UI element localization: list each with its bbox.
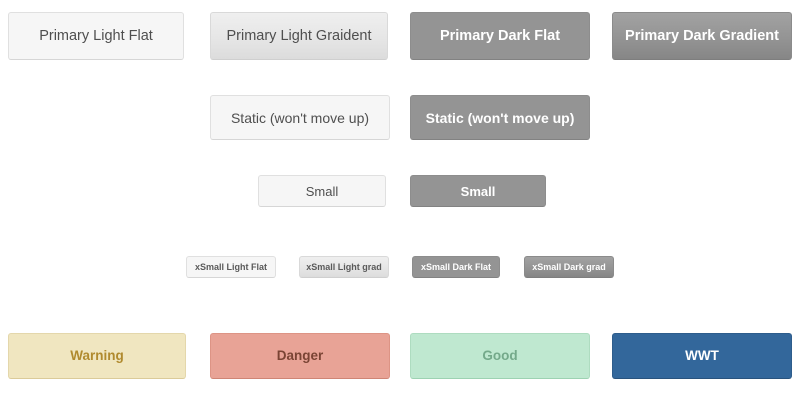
button-warning[interactable]: Warning xyxy=(8,333,186,379)
button-small-light[interactable]: Small xyxy=(258,175,386,207)
button-good[interactable]: Good xyxy=(410,333,590,379)
button-static-dark[interactable]: Static (won't move up) xyxy=(410,95,590,140)
button-danger[interactable]: Danger xyxy=(210,333,390,379)
button-xsmall-light-flat[interactable]: xSmall Light Flat xyxy=(186,256,276,278)
button-primary-light-flat[interactable]: Primary Light Flat xyxy=(8,12,184,60)
button-primary-dark-flat[interactable]: Primary Dark Flat xyxy=(410,12,590,60)
button-showcase: Primary Light Flat Primary Light Graiden… xyxy=(0,0,800,400)
button-primary-light-gradient[interactable]: Primary Light Graident xyxy=(210,12,388,60)
button-xsmall-light-gradient[interactable]: xSmall Light grad xyxy=(299,256,389,278)
button-static-light[interactable]: Static (won't move up) xyxy=(210,95,390,140)
button-wwt[interactable]: WWT xyxy=(612,333,792,379)
button-primary-dark-gradient[interactable]: Primary Dark Gradient xyxy=(612,12,792,60)
button-xsmall-dark-gradient[interactable]: xSmall Dark grad xyxy=(524,256,614,278)
button-xsmall-dark-flat[interactable]: xSmall Dark Flat xyxy=(412,256,500,278)
button-small-dark[interactable]: Small xyxy=(410,175,546,207)
